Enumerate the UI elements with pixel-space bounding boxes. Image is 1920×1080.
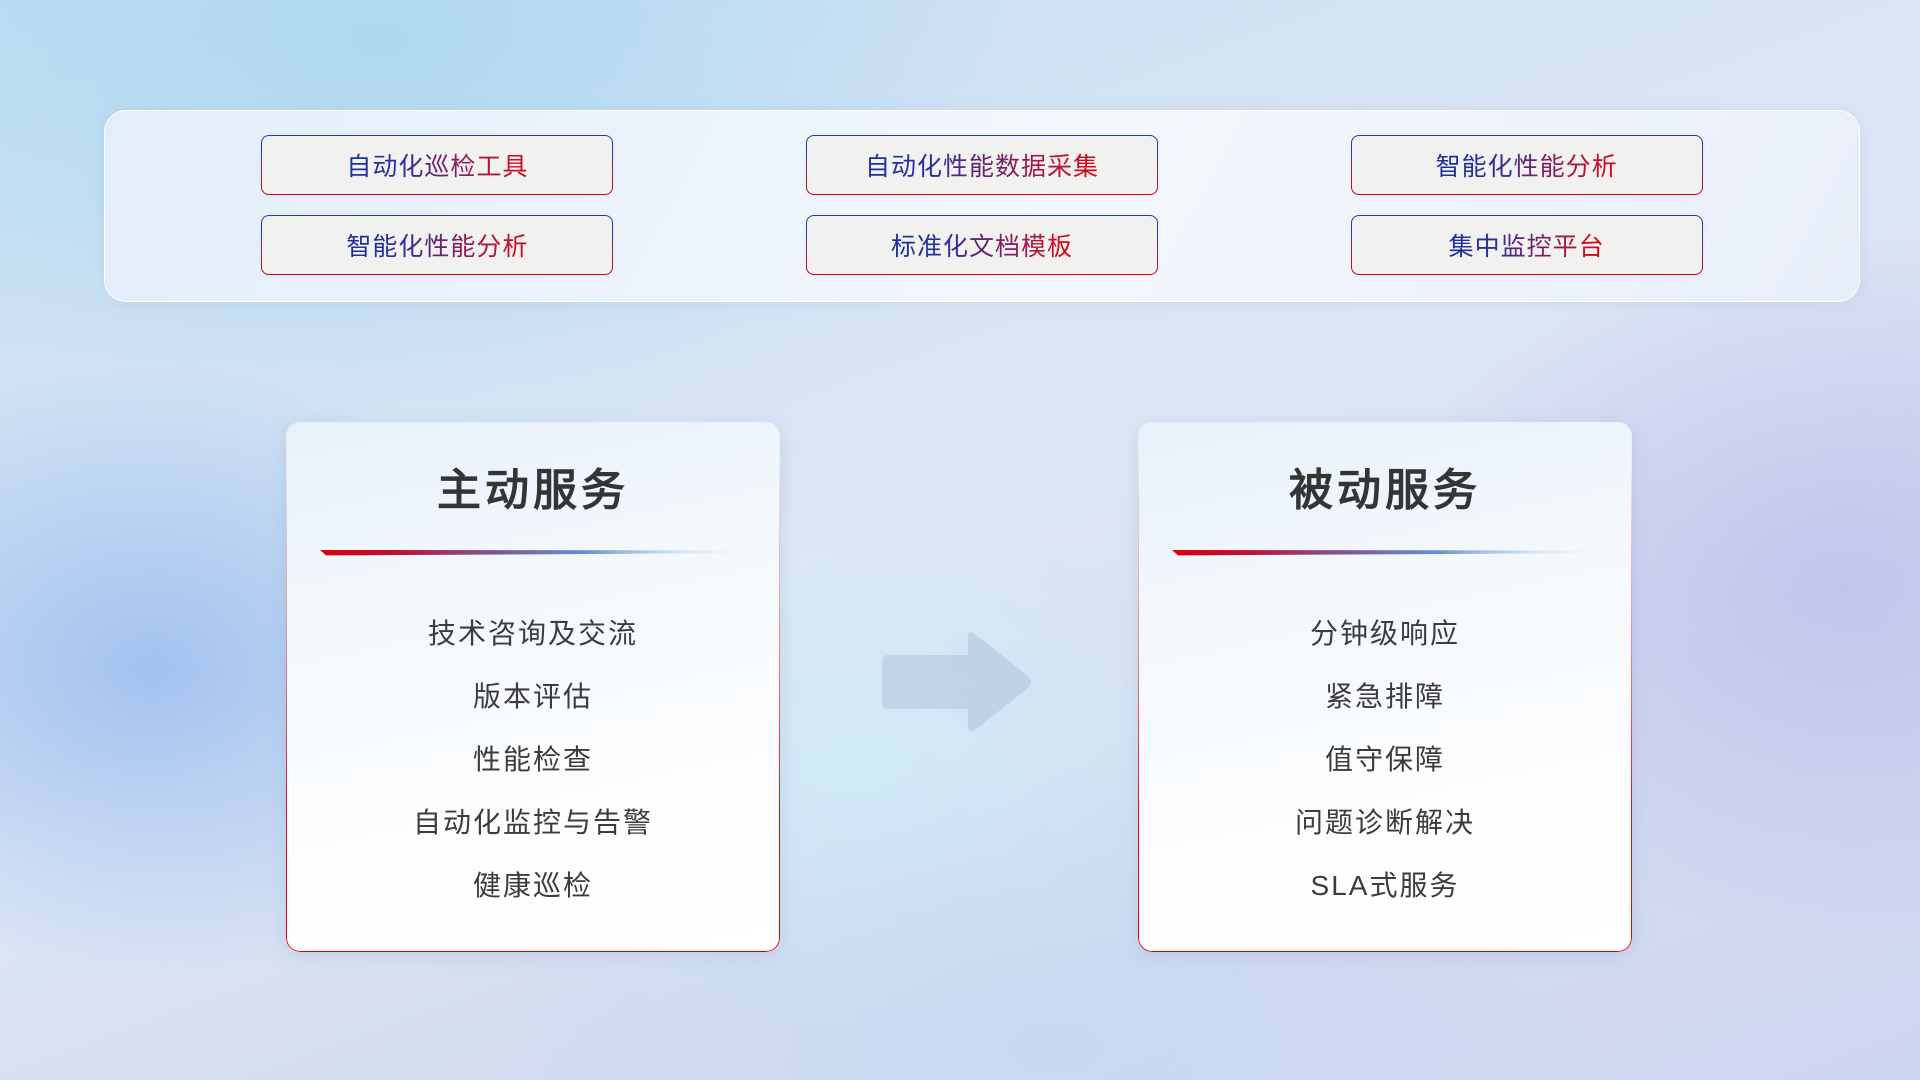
pill-automated-performance-collection[interactable]: 自动化性能数据采集 — [806, 135, 1158, 195]
pill-label: 集中监控平台 — [1449, 227, 1605, 263]
pill-intelligent-performance-analysis-2[interactable]: 智能化性能分析 — [261, 215, 613, 275]
list-item: 性能检查 — [473, 738, 593, 778]
pill-intelligent-performance-analysis-1[interactable]: 智能化性能分析 — [1351, 135, 1703, 195]
pill-label: 标准化文档模板 — [891, 227, 1073, 263]
list-item: 版本评估 — [473, 675, 593, 715]
list-item: 紧急排障 — [1325, 675, 1445, 715]
capability-tools-panel: 自动化巡检工具 自动化性能数据采集 智能化性能分析 智能化性能分析 标准化文档模… — [104, 110, 1860, 302]
arrow-right-icon — [876, 627, 1036, 737]
list-item: 问题诊断解决 — [1295, 801, 1475, 841]
title-divider-icon — [320, 548, 748, 557]
pill-standardized-doc-template[interactable]: 标准化文档模板 — [806, 215, 1158, 275]
list-item: 技术咨询及交流 — [428, 612, 638, 652]
list-item: SLA式服务 — [1311, 864, 1460, 904]
card-list-active: 技术咨询及交流 版本评估 性能检查 自动化监控与告警 健康巡检 — [286, 594, 780, 926]
list-item: 分钟级响应 — [1310, 612, 1460, 652]
service-card-passive[interactable]: 被动服务 分钟级响应 紧急排障 值守保障 问题诊断解决 SLA式服务 — [1138, 422, 1632, 952]
pill-label: 自动化巡检工具 — [346, 147, 528, 183]
pill-grid: 自动化巡检工具 自动化性能数据采集 智能化性能分析 智能化性能分析 标准化文档模… — [105, 111, 1859, 301]
pill-label: 自动化性能数据采集 — [865, 147, 1099, 183]
list-item: 健康巡检 — [473, 864, 593, 904]
card-title-passive: 被动服务 — [1138, 454, 1632, 518]
service-card-active[interactable]: 主动服务 技术咨询及交流 版本评估 性能检查 自动化监控与告警 健康巡检 — [286, 422, 780, 952]
pill-label: 智能化性能分析 — [1436, 147, 1618, 183]
list-item: 值守保障 — [1325, 738, 1445, 778]
list-item: 自动化监控与告警 — [413, 801, 653, 841]
pill-centralized-monitoring-platform[interactable]: 集中监控平台 — [1351, 215, 1703, 275]
card-list-passive: 分钟级响应 紧急排障 值守保障 问题诊断解决 SLA式服务 — [1138, 594, 1632, 926]
pill-label: 智能化性能分析 — [346, 227, 528, 263]
pill-automated-inspection-tool[interactable]: 自动化巡检工具 — [261, 135, 613, 195]
title-divider-icon — [1172, 548, 1600, 557]
card-title-active: 主动服务 — [286, 454, 780, 518]
